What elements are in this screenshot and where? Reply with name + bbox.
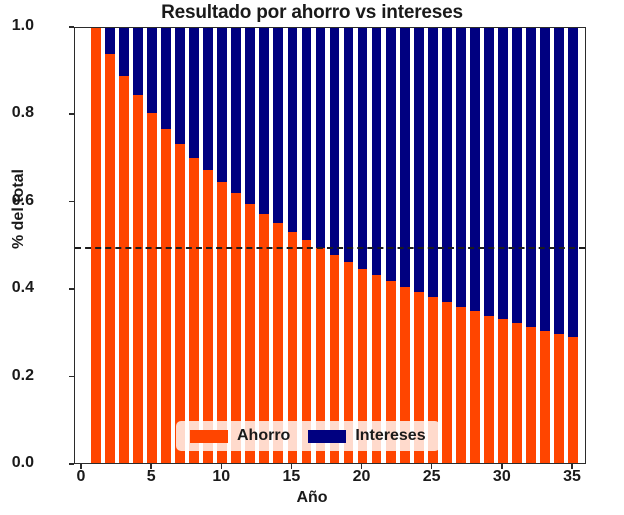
bar-segment-intereses — [316, 28, 326, 248]
stacked-bar — [484, 28, 494, 463]
chart-figure: Resultado por ahorro vs intereses % del … — [0, 0, 624, 515]
bar-segment-intereses — [512, 28, 522, 323]
stacked-bar — [470, 28, 480, 463]
bar-segment-intereses — [119, 28, 129, 76]
stacked-bar — [203, 28, 213, 463]
legend-label: Ahorro — [237, 427, 290, 445]
stacked-bar — [498, 28, 508, 463]
y-tick-label: 0.6 — [0, 192, 34, 210]
bar-segment-ahorro — [203, 170, 213, 463]
x-tick-label: 25 — [412, 468, 452, 486]
stacked-bar — [568, 28, 578, 463]
stacked-bar — [526, 28, 536, 463]
bar-segment-intereses — [540, 28, 550, 331]
y-tick-label: 0.8 — [0, 104, 34, 122]
legend-swatch-icon — [308, 430, 346, 443]
stacked-bar — [273, 28, 283, 463]
bar-segment-intereses — [273, 28, 283, 223]
stacked-bar — [302, 28, 312, 463]
stacked-bar — [414, 28, 424, 463]
bar-segment-ahorro — [175, 144, 185, 463]
x-tick-label: 20 — [342, 468, 382, 486]
stacked-bar — [386, 28, 396, 463]
stacked-bar — [189, 28, 199, 463]
bar-segment-ahorro — [512, 323, 522, 463]
x-tick-mark — [361, 464, 363, 469]
stacked-bar — [456, 28, 466, 463]
stacked-bar — [231, 28, 241, 463]
bar-segment-ahorro — [105, 54, 115, 463]
bar-segment-intereses — [484, 28, 494, 316]
y-tick-label: 0.4 — [0, 279, 34, 297]
x-tick-label: 30 — [482, 468, 522, 486]
x-tick-mark — [291, 464, 293, 469]
stacked-bar — [288, 28, 298, 463]
stacked-bar — [330, 28, 340, 463]
bar-segment-intereses — [372, 28, 382, 275]
bar-segment-intereses — [414, 28, 424, 292]
bar-segment-ahorro — [470, 311, 480, 463]
chart-legend[interactable]: AhorroIntereses — [176, 421, 440, 451]
stacked-bar — [400, 28, 410, 463]
bar-segment-intereses — [358, 28, 368, 269]
bar-segment-ahorro — [119, 76, 129, 463]
stacked-bar — [540, 28, 550, 463]
x-tick-label: 15 — [271, 468, 311, 486]
x-tick-label: 35 — [552, 468, 592, 486]
bar-segment-ahorro — [442, 302, 452, 463]
bar-segment-ahorro — [554, 334, 564, 463]
bar-segment-intereses — [526, 28, 536, 327]
stacked-bar — [358, 28, 368, 463]
bar-segment-ahorro — [568, 337, 578, 463]
stacked-bar — [217, 28, 227, 463]
bar-segment-intereses — [568, 28, 578, 337]
bar-segment-ahorro — [133, 95, 143, 463]
bar-segment-intereses — [203, 28, 213, 170]
bar-segment-ahorro — [189, 158, 199, 463]
stacked-bar — [554, 28, 564, 463]
stacked-bar — [105, 28, 115, 463]
bar-segment-intereses — [245, 28, 255, 204]
bar-segment-intereses — [175, 28, 185, 144]
legend-swatch-icon — [190, 430, 228, 443]
plot-area — [74, 27, 586, 464]
stacked-bar — [91, 28, 101, 463]
bar-segment-ahorro — [540, 331, 550, 463]
x-tick-mark — [571, 464, 573, 469]
bar-segment-ahorro — [147, 113, 157, 463]
y-tick-label: 1.0 — [0, 17, 34, 35]
bar-segment-intereses — [442, 28, 452, 302]
x-tick-mark — [431, 464, 433, 469]
bar-segment-intereses — [344, 28, 354, 262]
x-tick-label: 5 — [131, 468, 171, 486]
x-tick-mark — [501, 464, 503, 469]
stacked-bar — [245, 28, 255, 463]
bar-segment-intereses — [161, 28, 171, 129]
stacked-bar — [259, 28, 269, 463]
bar-segment-intereses — [400, 28, 410, 287]
y-tick-label: 0.2 — [0, 367, 34, 385]
bar-segment-intereses — [231, 28, 241, 193]
bar-segment-ahorro — [484, 316, 494, 463]
x-tick-mark — [150, 464, 152, 469]
bar-segment-intereses — [189, 28, 199, 158]
x-axis-label: Año — [0, 489, 624, 507]
bar-segment-intereses — [428, 28, 438, 297]
bar-segment-intereses — [105, 28, 115, 54]
bar-segment-intereses — [554, 28, 564, 334]
bar-segment-intereses — [470, 28, 480, 311]
bar-segment-intereses — [288, 28, 298, 232]
x-tick-mark — [221, 464, 223, 469]
bar-segment-intereses — [386, 28, 396, 281]
bar-segment-intereses — [217, 28, 227, 182]
bar-segment-intereses — [456, 28, 466, 307]
bar-segment-ahorro — [91, 28, 101, 463]
stacked-bar — [442, 28, 452, 463]
stacked-bar — [133, 28, 143, 463]
legend-label: Intereses — [355, 427, 425, 445]
bar-segment-ahorro — [161, 129, 171, 463]
y-tick-label: 0.0 — [0, 454, 34, 472]
bar-segment-ahorro — [498, 319, 508, 463]
legend-entry[interactable]: Ahorro — [190, 427, 290, 445]
bar-segment-intereses — [259, 28, 269, 214]
x-tick-mark — [80, 464, 82, 469]
bar-segment-ahorro — [456, 307, 466, 463]
stacked-bar — [512, 28, 522, 463]
stacked-bar — [161, 28, 171, 463]
stacked-bar — [175, 28, 185, 463]
bar-segment-intereses — [147, 28, 157, 113]
bar-segment-intereses — [498, 28, 508, 319]
stacked-bar — [119, 28, 129, 463]
chart-title: Resultado por ahorro vs intereses — [0, 2, 624, 24]
stacked-bar — [372, 28, 382, 463]
stacked-bar — [428, 28, 438, 463]
stacked-bar — [316, 28, 326, 463]
x-tick-label: 10 — [201, 468, 241, 486]
bar-segment-ahorro — [526, 327, 536, 463]
stacked-bar — [147, 28, 157, 463]
legend-entry[interactable]: Intereses — [308, 427, 425, 445]
bar-segment-intereses — [302, 28, 312, 240]
stacked-bar — [344, 28, 354, 463]
bar-segment-intereses — [133, 28, 143, 95]
bar-segment-intereses — [330, 28, 340, 255]
x-tick-label: 0 — [61, 468, 101, 486]
